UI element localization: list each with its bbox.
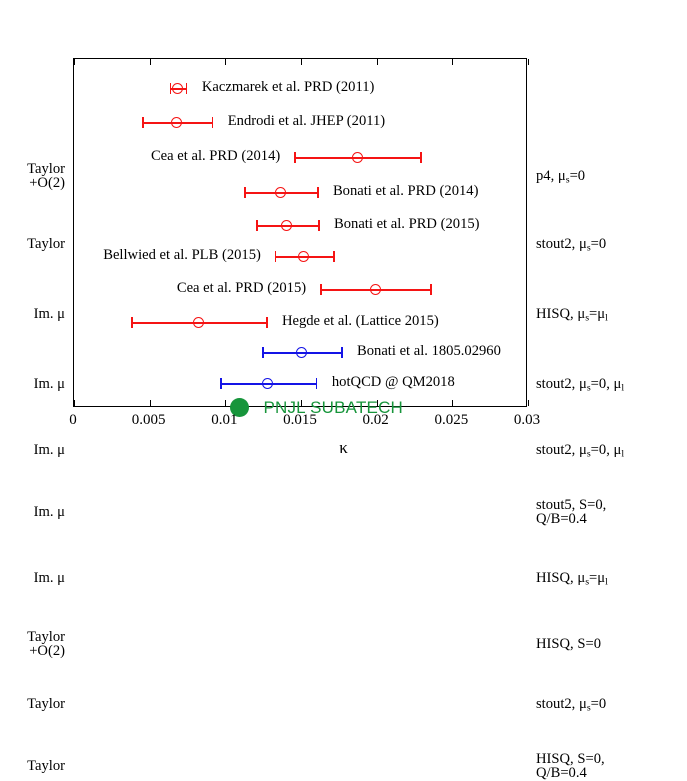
- x-tick-bottom: [74, 400, 75, 406]
- method-label: Taylor: [27, 238, 65, 252]
- error-bar-cap-high: [186, 83, 188, 94]
- citation-label: hotQCD @ QM2018: [332, 375, 455, 390]
- error-bar-cap-high: [420, 152, 422, 163]
- action-label-line: HISQ, μs=μl: [536, 308, 608, 325]
- error-bar-cap-high: [430, 284, 432, 295]
- citation-label: Hegde et al. (Lattice 2015): [282, 314, 439, 329]
- method-label-line: Im. μ: [34, 572, 65, 586]
- error-bar-cap-high: [317, 187, 319, 198]
- action-label: HISQ, S=0: [536, 638, 601, 652]
- error-bar-cap-high: [266, 317, 268, 328]
- error-bar-cap-low: [262, 347, 264, 358]
- method-label-line: Im. μ: [34, 506, 65, 520]
- data-point-marker[interactable]: [296, 347, 307, 358]
- method-label: Im. μ: [34, 378, 65, 392]
- error-bar-cap-high: [333, 251, 335, 262]
- citation-label: Cea et al. PRD (2015): [177, 281, 306, 296]
- x-tick-bottom: [452, 400, 453, 406]
- x-tick-top: [74, 59, 75, 65]
- method-label: Im. μ: [34, 308, 65, 322]
- action-label-line: HISQ, S=0: [536, 638, 601, 652]
- x-tick-bottom: [528, 400, 529, 406]
- method-label: Im. μ: [34, 572, 65, 586]
- citation-label: Endrodi et al. JHEP (2011): [228, 114, 385, 129]
- data-point-marker[interactable]: [172, 83, 183, 94]
- x-tick-label: 0.03: [514, 412, 540, 429]
- data-point-marker[interactable]: [171, 117, 182, 128]
- data-point-marker[interactable]: [275, 187, 286, 198]
- x-tick-top: [301, 59, 302, 65]
- method-label: Taylor: [27, 760, 65, 774]
- action-label-line: p4, μs=0: [536, 170, 585, 187]
- method-label-line: Taylor: [27, 238, 65, 252]
- action-label: p4, μs=0: [536, 170, 585, 187]
- method-label: Taylor: [27, 698, 65, 712]
- data-point-marker[interactable]: [262, 378, 273, 389]
- error-bar-cap-low: [142, 117, 144, 128]
- citation-label: Cea et al. PRD (2014): [151, 149, 280, 164]
- data-point-marker[interactable]: [281, 220, 292, 231]
- error-bar-cap-low: [256, 220, 258, 231]
- data-point-marker[interactable]: [352, 152, 363, 163]
- action-label: stout2, μs=0: [536, 698, 606, 715]
- action-label: HISQ, S=0,Q/B=0.4: [536, 753, 605, 780]
- action-label-line: HISQ, S=0,: [536, 753, 605, 767]
- method-label-line: Taylor: [27, 698, 65, 712]
- action-label-line: stout2, μs=0: [536, 698, 606, 715]
- method-label: Im. μ: [34, 506, 65, 520]
- action-label-line: stout2, μs=0, μl: [536, 378, 624, 395]
- x-tick-label: 0.005: [132, 412, 166, 429]
- data-point-marker[interactable]: [298, 251, 309, 262]
- x-tick-label: 0.02: [363, 412, 389, 429]
- error-bar-cap-high: [341, 347, 343, 358]
- x-tick-label: 0: [69, 412, 77, 429]
- x-tick-top: [452, 59, 453, 65]
- citation-label: Bonati et al. PRD (2014): [333, 184, 479, 199]
- method-label-line: +O(2): [27, 645, 65, 659]
- data-point-marker[interactable]: [193, 317, 204, 328]
- kappa-comparison-chart: Kaczmarek et al. PRD (2011)Taylor+O(2)p4…: [0, 0, 687, 487]
- method-label: Taylor+O(2): [27, 163, 65, 190]
- x-tick-bottom: [225, 400, 226, 406]
- method-label-line: Taylor: [27, 631, 65, 645]
- x-tick-top: [528, 59, 529, 65]
- method-label-line: Im. μ: [34, 308, 65, 322]
- x-tick-label: 0.025: [434, 412, 468, 429]
- citation-label: Bonati et al. 1805.02960: [357, 344, 501, 359]
- x-tick-top: [150, 59, 151, 65]
- citation-label: Bellwied et al. PLB (2015): [103, 248, 261, 263]
- error-bar-cap-high: [212, 117, 214, 128]
- error-bar-cap-high: [318, 220, 320, 231]
- action-label-line: stout5, S=0,: [536, 499, 606, 513]
- x-tick-label: 0.015: [283, 412, 317, 429]
- action-label: stout5, S=0,Q/B=0.4: [536, 499, 606, 526]
- error-bar-cap-low: [131, 317, 133, 328]
- action-label-line: HISQ, μs=μl: [536, 572, 608, 589]
- x-tick-bottom: [150, 400, 151, 406]
- x-tick-top: [225, 59, 226, 65]
- action-label: stout2, μs=0: [536, 238, 606, 255]
- error-bar-cap-low: [170, 83, 172, 94]
- action-label: stout2, μs=0, μl: [536, 378, 624, 395]
- action-label-line: Q/B=0.4: [536, 767, 605, 781]
- method-label-line: Taylor: [27, 760, 65, 774]
- action-label-line: stout2, μs=0: [536, 238, 606, 255]
- method-label: Taylor+O(2): [27, 631, 65, 658]
- x-tick-label: 0.01: [211, 412, 237, 429]
- x-tick-top: [377, 59, 378, 65]
- action-label: HISQ, μs=μl: [536, 308, 608, 325]
- method-label-line: Im. μ: [34, 378, 65, 392]
- citation-label: Kaczmarek et al. PRD (2011): [202, 80, 375, 95]
- citation-label: Bonati et al. PRD (2015): [334, 217, 480, 232]
- x-axis-title: κ: [0, 438, 687, 458]
- error-bar-cap-low: [220, 378, 222, 389]
- action-label: HISQ, μs=μl: [536, 572, 608, 589]
- method-label-line: +O(2): [27, 177, 65, 191]
- action-label-line: Q/B=0.4: [536, 513, 606, 527]
- error-bar-cap-low: [320, 284, 322, 295]
- error-bar-cap-low: [294, 152, 296, 163]
- error-bar-cap-low: [244, 187, 246, 198]
- error-bar-cap-low: [275, 251, 277, 262]
- error-bar-cap-high: [316, 378, 318, 389]
- data-point-marker[interactable]: [370, 284, 381, 295]
